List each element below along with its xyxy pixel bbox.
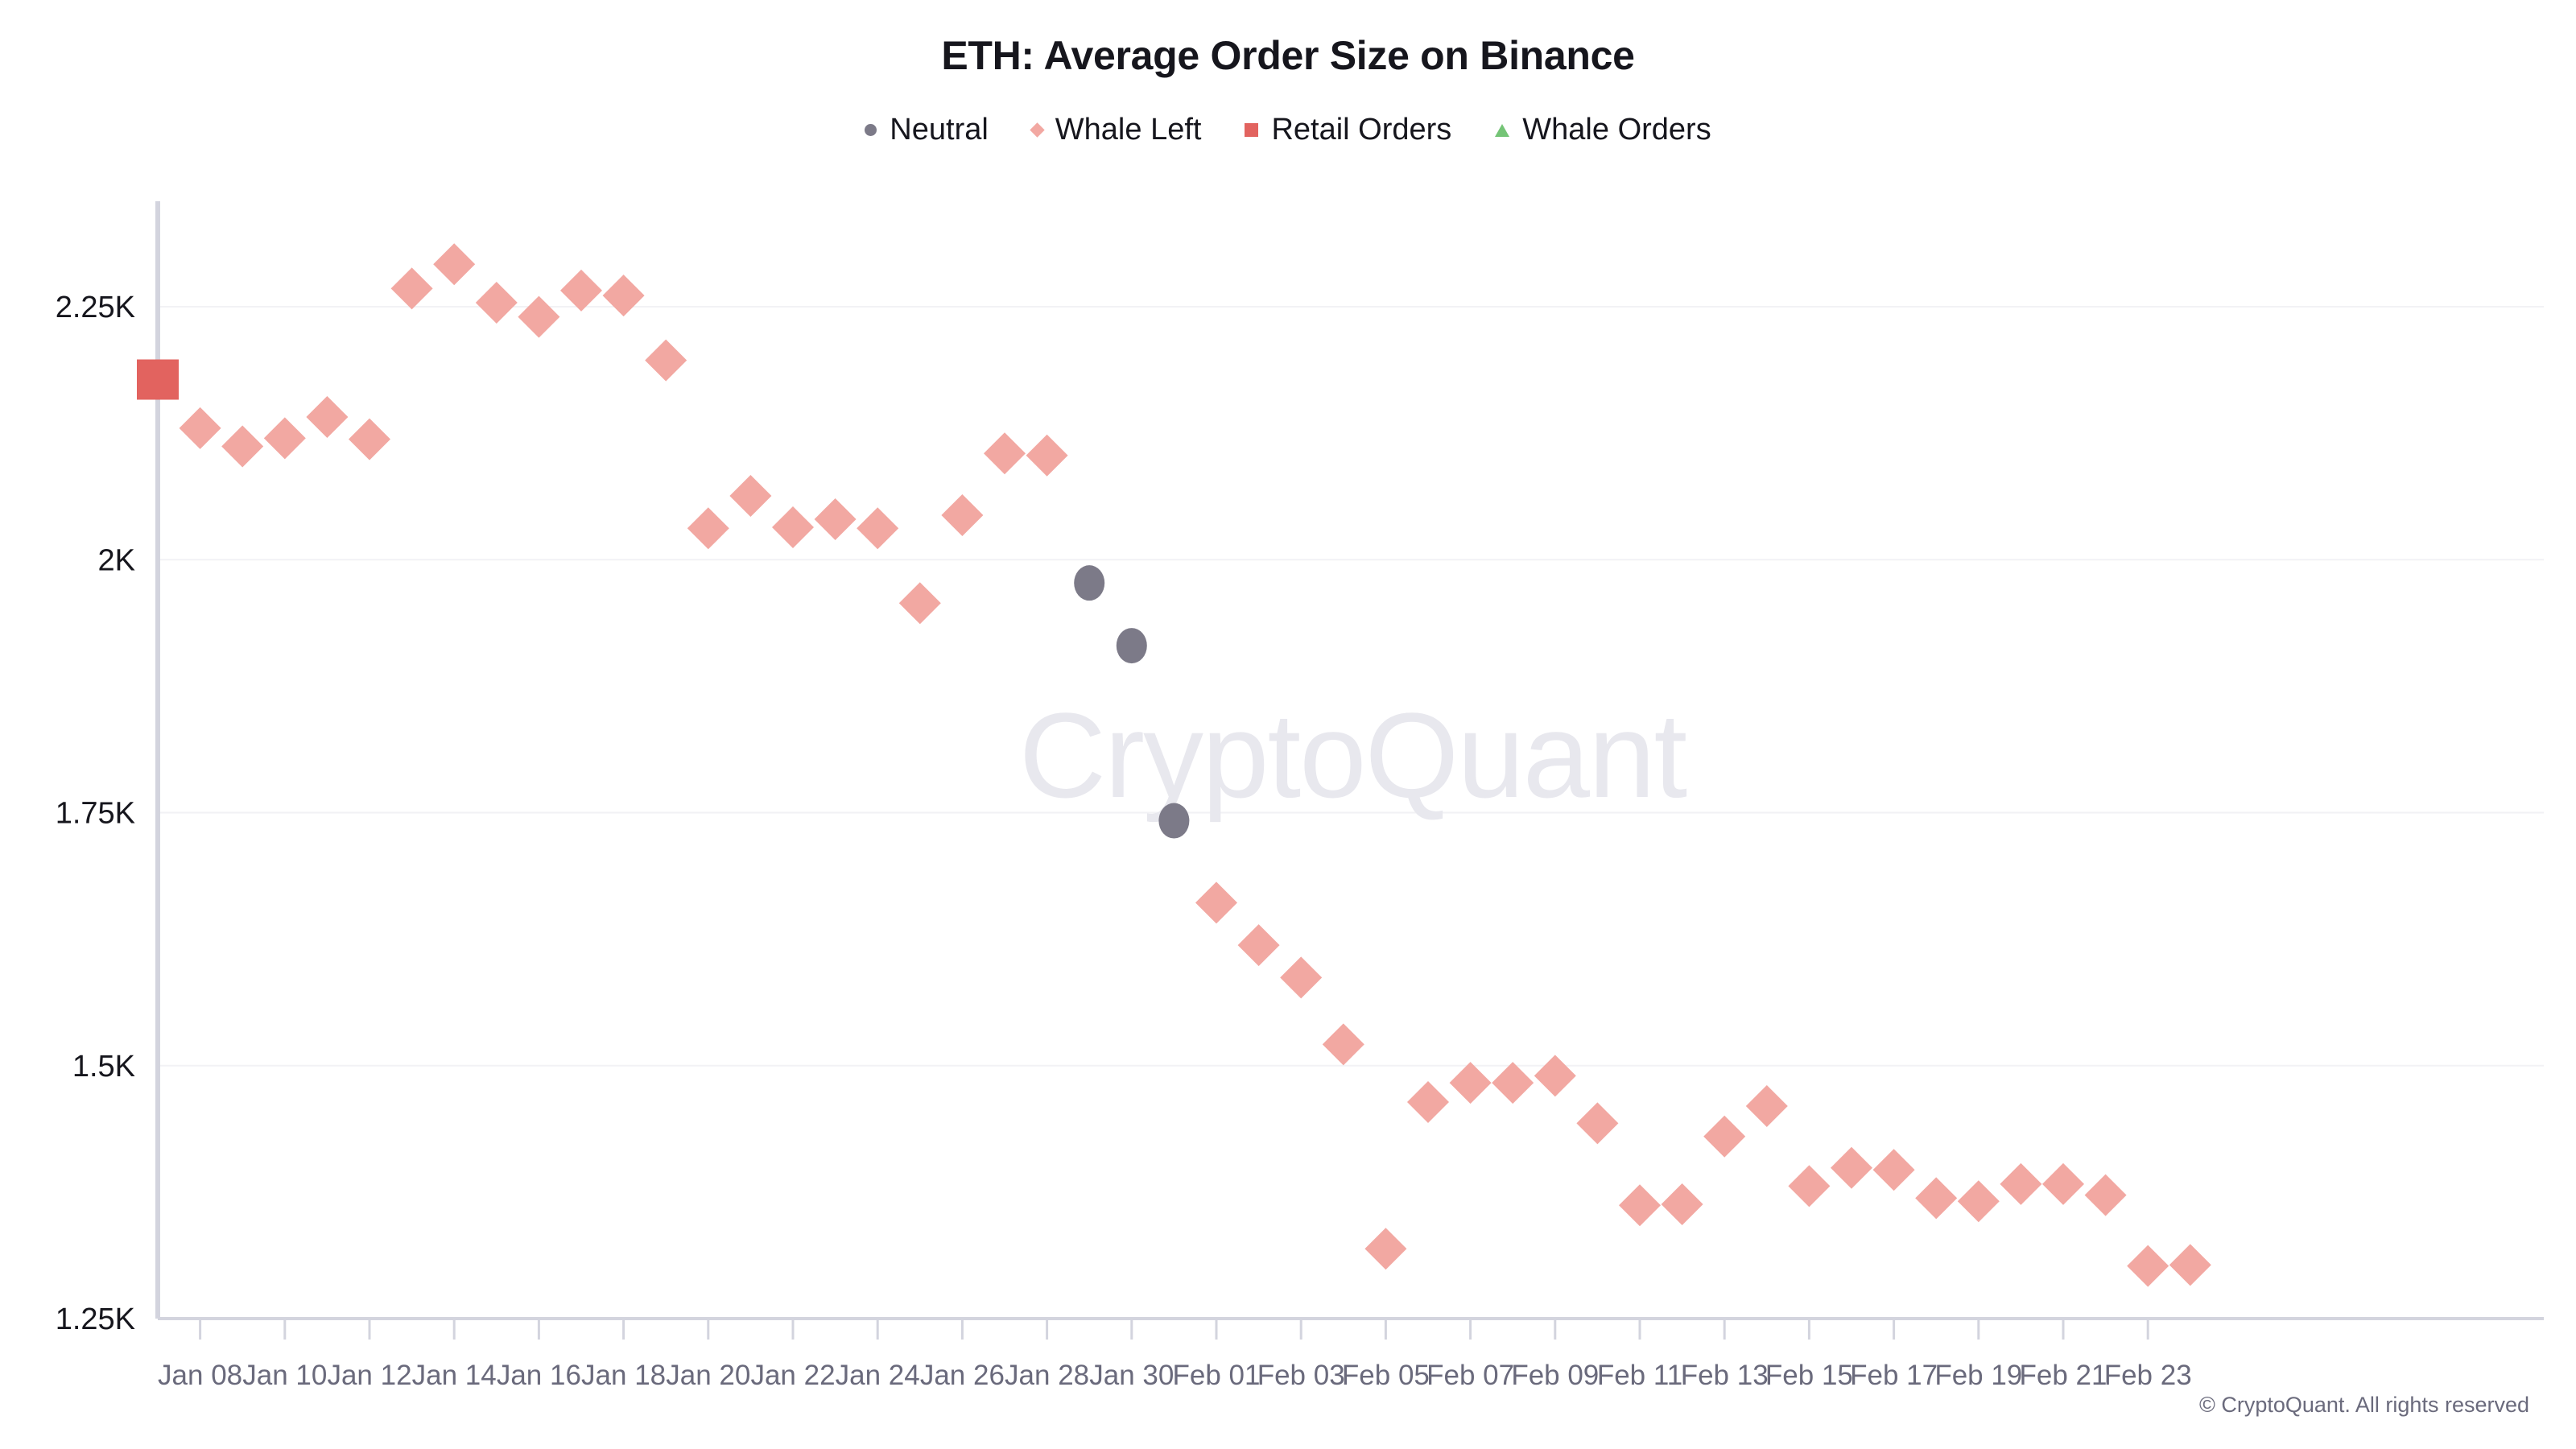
data-point-neutral[interactable] [1117, 628, 1147, 663]
x-tick-label: Feb 01 [1173, 1360, 1261, 1391]
chart-root: ETH: Average Order Size on Binance Neutr… [0, 0, 2576, 1449]
data-point-whale-left[interactable] [2127, 1245, 2169, 1287]
x-tick-label: Feb 07 [1426, 1360, 1514, 1391]
data-point-whale-left[interactable] [645, 340, 687, 382]
x-tick-label: Feb 19 [1934, 1360, 2022, 1391]
data-point-whale-left[interactable] [857, 507, 898, 549]
data-point-whale-left[interactable] [1195, 881, 1237, 923]
data-point-whale-left[interactable] [1323, 1023, 1364, 1065]
data-point-whale-left[interactable] [1026, 435, 1068, 477]
plot-area: CryptoQuant 1.25K1.5K1.75K2K2.25K Jan 08… [0, 0, 2576, 1449]
data-point-whale-left[interactable] [2085, 1174, 2127, 1216]
data-point-whale-left[interactable] [306, 396, 348, 438]
data-point-whale-left[interactable] [221, 425, 263, 467]
x-tick-label: Jan 26 [920, 1360, 1005, 1391]
x-tick-label: Feb 21 [2020, 1360, 2107, 1391]
y-tick-label: 1.75K [56, 797, 135, 831]
data-point-whale-left[interactable] [264, 417, 306, 459]
data-point-whale-left[interactable] [815, 498, 857, 540]
x-tick-label: Feb 05 [1342, 1360, 1430, 1391]
y-tick-label: 2.25K [56, 291, 135, 324]
x-tick-label: Jan 10 [242, 1360, 327, 1391]
x-tick-label: Jan 18 [581, 1360, 666, 1391]
data-point-whale-left[interactable] [560, 270, 602, 312]
y-tick-label: 1.5K [72, 1050, 135, 1084]
data-point-whale-left[interactable] [941, 494, 983, 536]
data-point-whale-left[interactable] [899, 582, 941, 624]
x-tick-label: Feb 09 [1511, 1360, 1599, 1391]
data-point-whale-left[interactable] [1619, 1184, 1661, 1226]
data-point-whale-left[interactable] [1873, 1149, 1915, 1191]
x-tick-label: Jan 24 [836, 1360, 920, 1391]
x-tick-label: Feb 17 [1850, 1360, 1938, 1391]
data-point-whale-left[interactable] [729, 475, 771, 517]
y-axis-ticks: 1.25K1.5K1.75K2K2.25K [56, 291, 135, 1336]
data-point-whale-left[interactable] [1703, 1116, 1745, 1158]
data-point-whale-left[interactable] [772, 506, 814, 548]
x-tick-label: Feb 11 [1597, 1360, 1682, 1391]
svg-text:CryptoQuant: CryptoQuant [1019, 687, 1687, 823]
x-tick-label: Feb 15 [1765, 1360, 1853, 1391]
x-tick-label: Feb 03 [1257, 1360, 1345, 1391]
data-point-whale-left[interactable] [1662, 1183, 1703, 1225]
data-point-whale-left[interactable] [2000, 1163, 2041, 1205]
y-tick-label: 2K [98, 543, 135, 577]
data-point-whale-left[interactable] [349, 419, 390, 460]
y-tick-label: 1.25K [56, 1302, 135, 1336]
data-point-whale-left[interactable] [687, 507, 729, 549]
x-tick-label: Feb 13 [1681, 1360, 1769, 1391]
data-point-whale-left[interactable] [433, 243, 475, 285]
data-point-whale-left[interactable] [1576, 1102, 1618, 1144]
x-tick-label: Jan 20 [666, 1360, 750, 1391]
data-point-whale-left[interactable] [1915, 1177, 1957, 1219]
data-point-neutral[interactable] [1158, 803, 1189, 839]
data-point-neutral[interactable] [1074, 565, 1104, 601]
copyright-notice: © CryptoQuant. All rights reserved [2199, 1393, 2529, 1418]
x-tick-label: Jan 12 [327, 1360, 411, 1391]
data-point-whale-left[interactable] [1407, 1081, 1449, 1123]
data-point-whale-left[interactable] [2169, 1244, 2211, 1286]
watermark: CryptoQuant [1019, 687, 1687, 823]
data-point-whale-left[interactable] [984, 432, 1026, 474]
x-tick-label: Jan 30 [1089, 1360, 1174, 1391]
data-point-whale-left[interactable] [476, 282, 518, 324]
data-point-whale-left[interactable] [518, 296, 559, 338]
data-point-whale-left[interactable] [1238, 924, 1280, 966]
data-point-whale-left[interactable] [1492, 1062, 1534, 1104]
x-tick-label: Jan 28 [1005, 1360, 1089, 1391]
x-tick-label: Jan 08 [158, 1360, 242, 1391]
data-point-whale-left[interactable] [1746, 1085, 1788, 1127]
data-point-whale-left[interactable] [1958, 1180, 2000, 1222]
x-tick-label: Jan 16 [497, 1360, 581, 1391]
x-tick-label: Feb 23 [2104, 1360, 2192, 1391]
x-tick-label: Jan 22 [750, 1360, 835, 1391]
data-point-whale-left[interactable] [180, 407, 221, 449]
data-point-whale-left[interactable] [2042, 1163, 2084, 1205]
data-point-whale-left[interactable] [1788, 1165, 1830, 1207]
data-point-retail-orders[interactable] [137, 360, 179, 400]
data-point-whale-left[interactable] [1450, 1062, 1492, 1104]
data-point-whale-left[interactable] [391, 267, 433, 309]
data-point-whale-left[interactable] [1831, 1147, 1872, 1189]
data-point-whale-left[interactable] [603, 275, 645, 316]
data-point-whale-left[interactable] [1280, 956, 1322, 998]
x-tick-label: Jan 14 [412, 1360, 497, 1391]
x-axis-ticks: Jan 08Jan 10Jan 12Jan 14Jan 16Jan 18Jan … [158, 1319, 2192, 1391]
data-point-whale-left[interactable] [1364, 1228, 1406, 1269]
data-point-whale-left[interactable] [1534, 1055, 1576, 1096]
